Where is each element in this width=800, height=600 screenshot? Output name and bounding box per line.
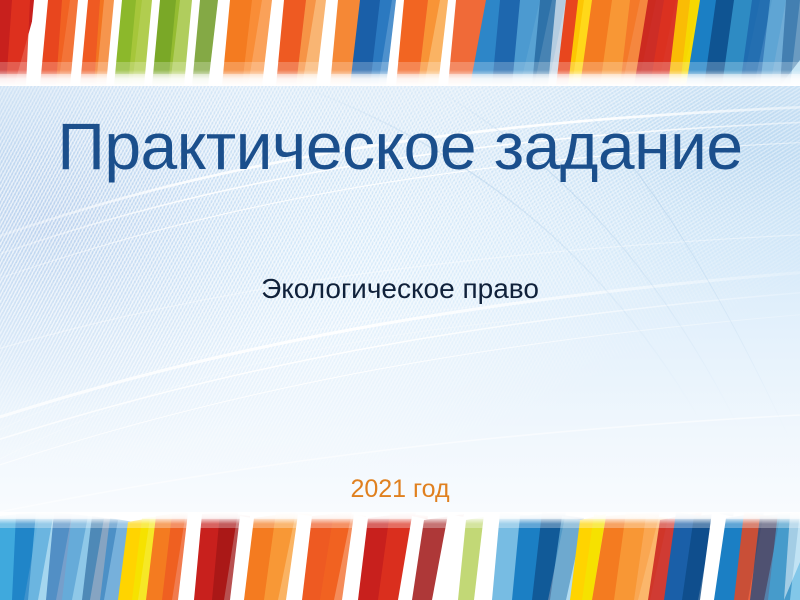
presentation-slide: Практическое задание Экологическое право… [0, 0, 800, 600]
slide-year-label: 2021 год [0, 474, 800, 504]
top-decorative-border [0, 0, 800, 86]
slide-subtitle: Экологическое право [0, 272, 800, 306]
bottom-border-shards-graphic [0, 512, 800, 600]
top-border-shards-graphic [0, 0, 800, 86]
slide-title: Практическое задание [0, 112, 800, 181]
bottom-decorative-border [0, 512, 800, 600]
